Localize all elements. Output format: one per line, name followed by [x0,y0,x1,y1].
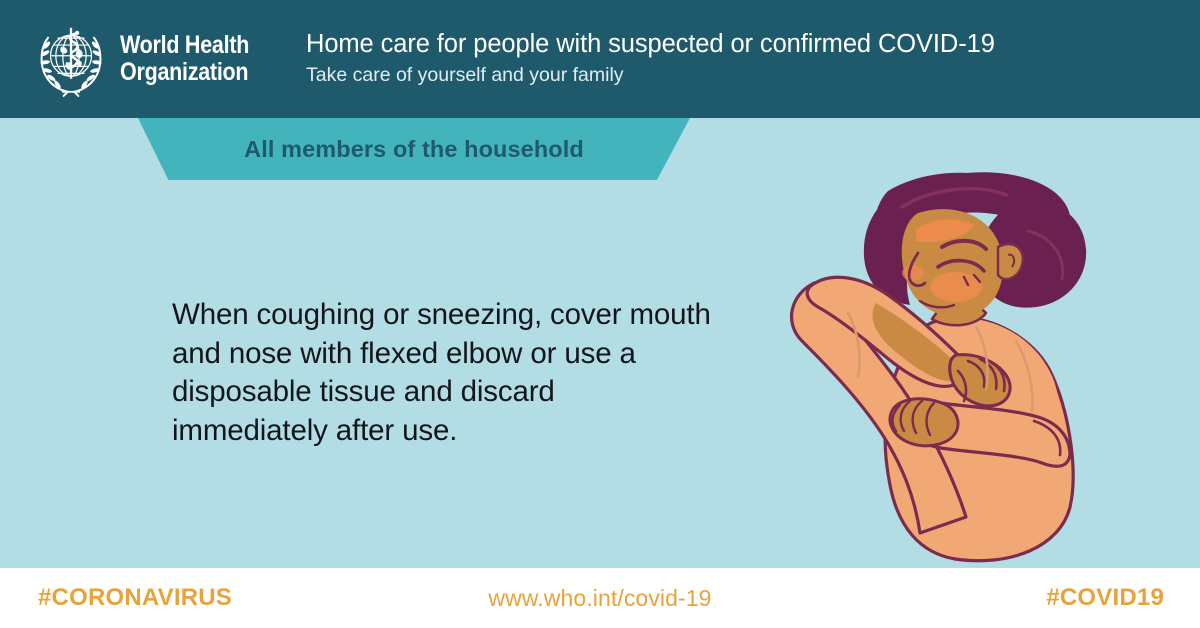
who-wordmark-line2: Organization [120,58,248,86]
footer-bar: #CORONAVIRUS www.who.int/covid-19 #COVID… [0,568,1200,628]
who-logo: World Health Organization [30,18,292,100]
advice-text: When coughing or sneezing, cover mouth a… [172,296,712,451]
who-wordmark: World Health Organization [120,32,249,86]
who-emblem-icon [30,18,112,100]
header-text-block: Home care for people with suspected or c… [306,30,995,88]
header-title: Home care for people with suspected or c… [306,30,995,60]
who-wordmark-line1: World Health [120,31,249,59]
banner-label: All members of the household [138,118,690,180]
woman-coughing-into-elbow-illustration [770,155,1100,565]
header-bar: World Health Organization Home care for … [0,0,1200,118]
footer-url[interactable]: www.who.int/covid-19 [0,585,1200,612]
header-subtitle: Take care of yourself and your family [306,63,995,88]
who-covid19-infographic: World Health Organization Home care for … [0,0,1200,628]
footer-hashtag-covid19: #COVID19 [1046,584,1164,612]
